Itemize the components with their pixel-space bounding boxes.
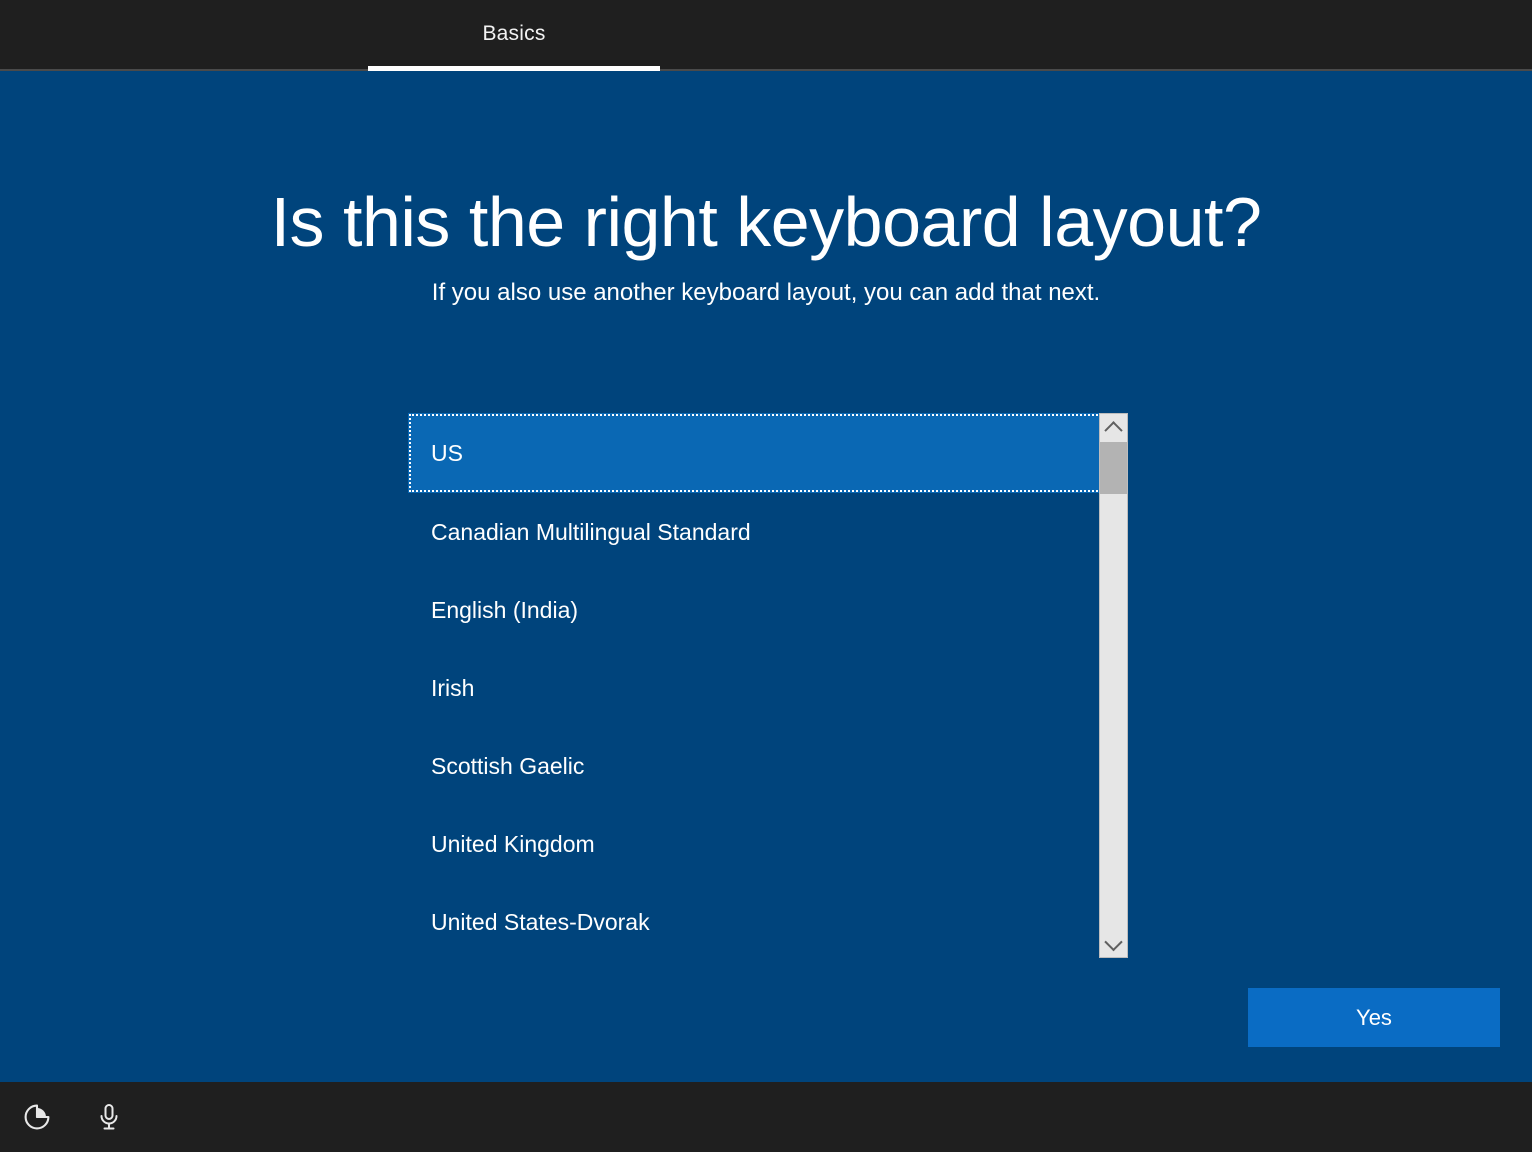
keyboard-layout-listbox[interactable]: USCanadian Multilingual StandardEnglish … — [408, 413, 1128, 958]
page-subtitle: If you also use another keyboard layout,… — [0, 279, 1532, 308]
list-item[interactable]: English (India) — [408, 571, 1110, 649]
list-item-label: Scottish Gaelic — [431, 753, 584, 780]
list-item-label: United Kingdom — [431, 831, 595, 858]
tab-active-underline — [368, 66, 660, 71]
scroll-down-button[interactable] — [1100, 930, 1127, 957]
main-content: Is this the right keyboard layout? If yo… — [0, 73, 1532, 1082]
header-bar: Basics — [0, 0, 1532, 71]
list-item[interactable]: US — [408, 413, 1110, 493]
tab-basics[interactable]: Basics — [368, 0, 660, 71]
list-item[interactable]: United States-Dvorak — [408, 883, 1110, 958]
chevron-up-icon — [1104, 421, 1122, 439]
list-item-label: English (India) — [431, 597, 578, 624]
yes-button[interactable]: Yes — [1248, 988, 1500, 1047]
footer-bar — [0, 1082, 1532, 1152]
list-item[interactable]: Scottish Gaelic — [408, 727, 1110, 805]
listbox-scrollbar[interactable] — [1099, 413, 1128, 958]
scroll-up-button[interactable] — [1100, 414, 1127, 441]
list-item-label: United States-Dvorak — [431, 909, 650, 936]
oobe-screen: Basics Is this the right keyboard layout… — [0, 0, 1532, 1152]
chevron-down-icon — [1104, 933, 1122, 951]
ease-of-access-icon[interactable] — [10, 1090, 64, 1144]
list-item-label: Irish — [431, 675, 474, 702]
list-item[interactable]: United Kingdom — [408, 805, 1110, 883]
keyboard-layout-list: USCanadian Multilingual StandardEnglish … — [408, 413, 1110, 958]
tab-basics-label: Basics — [482, 23, 545, 48]
list-item[interactable]: Canadian Multilingual Standard — [408, 493, 1110, 571]
scrollbar-thumb[interactable] — [1100, 442, 1127, 494]
list-item[interactable]: Irish — [408, 649, 1110, 727]
microphone-icon[interactable] — [82, 1090, 136, 1144]
list-item-label: US — [431, 440, 463, 467]
page-title: Is this the right keyboard layout? — [0, 183, 1532, 261]
list-item-label: Canadian Multilingual Standard — [431, 519, 751, 546]
